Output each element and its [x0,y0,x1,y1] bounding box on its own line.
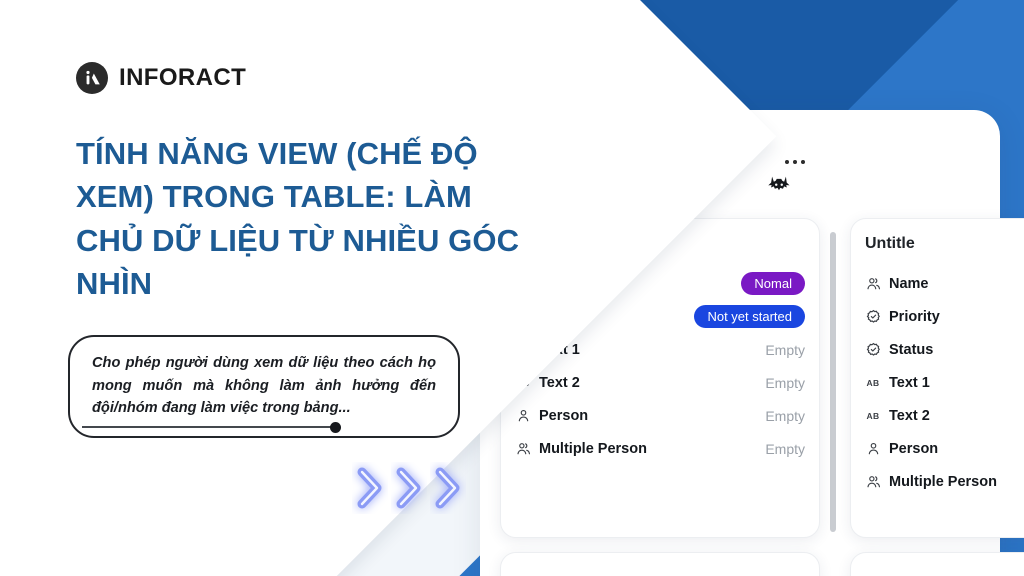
field-list-card-title: Untitle [865,235,1024,253]
field-row-person[interactable]: Person [865,432,1024,465]
field-row-text2[interactable]: AB Text 2 [865,399,1024,432]
quote-pointer-line [82,426,332,428]
field-row-name[interactable]: Name [865,267,1024,300]
field-label: Priority [889,309,940,325]
page-title: TÍNH NĂNG VIEW (CHẾ ĐỘ XEM) TRONG TABLE:… [76,132,536,306]
field-list-card[interactable]: Untitle Name Pri [850,218,1024,538]
quote-callout: Cho phép người dùng xem dữ liệu theo các… [68,335,460,438]
slide-canvas: .d riority Nomal Stat [0,0,1024,576]
chevron-right-icon [430,462,466,514]
field-row-multiple-person[interactable]: Multiple Person Empty [515,432,805,465]
person-icon [865,441,881,457]
select-circle-icon [865,342,881,358]
status-badge[interactable]: Not yet started [694,305,805,328]
select-circle-icon [865,309,881,325]
field-label: Status [889,342,933,358]
field-label: Text 1 [889,375,930,391]
field-label: Text 2 [539,375,580,391]
overflow-menu-icon[interactable] [785,160,805,164]
field-row-text2[interactable]: AB Text 2 Empty [515,366,805,399]
multiple-person-icon [865,474,881,490]
record-detail-card-lower[interactable] [500,552,820,576]
person-icon [515,408,531,424]
brand-name: INFORACT [119,64,246,92]
multiple-person-icon [865,276,881,292]
field-row-priority[interactable]: Priority [865,300,1024,333]
field-value[interactable]: Empty [765,375,805,391]
ab-text-icon: AB [865,408,881,424]
bat-cursor-icon [766,175,792,197]
field-value[interactable]: Empty [765,342,805,358]
field-label: Name [889,276,929,292]
field-value[interactable]: Empty [765,441,805,457]
inforact-logo-icon [76,62,108,94]
chevron-right-icon [352,462,388,514]
field-value[interactable]: Empty [765,408,805,424]
field-row-person[interactable]: Person Empty [515,399,805,432]
field-label: Multiple Person [889,474,997,490]
field-label: Person [889,441,938,457]
vertical-scrollbar[interactable] [830,232,836,532]
quote-text: Cho phép người dùng xem dữ liệu theo các… [92,352,436,420]
priority-badge[interactable]: Nomal [741,272,805,295]
field-row-status[interactable]: Status [865,333,1024,366]
field-list-card-lower[interactable] [850,552,1024,576]
field-label: Multiple Person [539,441,647,457]
chevron-right-icon [391,462,427,514]
brand-logo: INFORACT [76,62,246,94]
field-row-text1[interactable]: AB Text 1 [865,366,1024,399]
ab-text-icon: AB [865,375,881,391]
field-label: Text 2 [889,408,930,424]
field-row-multiple-person[interactable]: Multiple Person [865,465,1024,498]
quote-pointer-dot [330,422,341,433]
app-screenshot-cluster: .d riority Nomal Stat [520,120,1024,576]
multiple-person-icon [515,441,531,457]
chevron-group [352,462,466,514]
field-label: Person [539,408,588,424]
